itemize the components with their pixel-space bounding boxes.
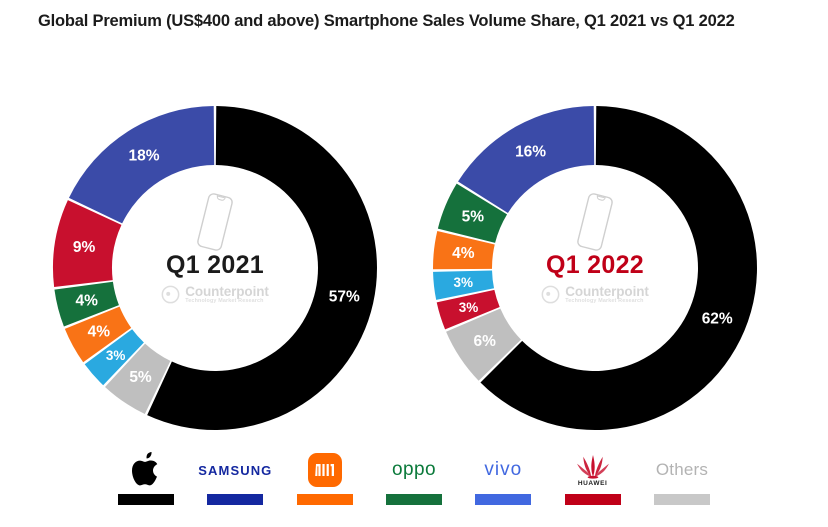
others-label-wrap: Others: [656, 448, 708, 492]
slice-label-oppo: 5%: [462, 208, 485, 225]
oppo-wordmark: oppo: [392, 459, 436, 481]
watermark-tagline: Technology Market Research: [565, 299, 649, 305]
legend-swatch-vivo: [475, 494, 531, 505]
legend-item-samsung[interactable]: SAMSUNG: [193, 448, 277, 505]
watermark-tagline: Technology Market Research: [185, 299, 269, 305]
vivo-logo-wrap: vivo: [484, 448, 522, 492]
slice-label-xiaomi: 4%: [88, 323, 111, 340]
legend-swatch-samsung: [207, 494, 263, 505]
counterpoint-watermark: Counterpoint Technology Market Research: [430, 285, 760, 305]
chart-legend: SAMSUNG oppo vivo: [104, 448, 724, 522]
oppo-logo-wrap: oppo: [392, 448, 436, 492]
slice-label-others: 6%: [473, 333, 496, 350]
huawei-flower-icon: [576, 453, 610, 479]
vivo-wordmark: vivo: [484, 459, 522, 481]
slice-label-others: 5%: [129, 369, 152, 386]
xiaomi-mi-logo-icon: [308, 453, 342, 487]
legend-swatch-apple: [118, 494, 174, 505]
xiaomi-mi-glyph: [315, 462, 335, 478]
slice-label-samsung: 16%: [515, 144, 546, 161]
legend-item-oppo[interactable]: oppo: [372, 448, 456, 505]
watermark-name: Counterpoint: [185, 285, 269, 299]
donut-chart-q1-2022: 62%6%3%3%4%5%16% Q1 2022 Counterpoint Te…: [430, 103, 760, 433]
samsung-logo-wrap: SAMSUNG: [198, 448, 272, 492]
legend-item-apple[interactable]: [104, 448, 188, 505]
legend-swatch-others: [654, 494, 710, 505]
legend-swatch-xiaomi: [297, 494, 353, 505]
legend-item-huawei[interactable]: HUAWEI: [551, 448, 635, 505]
donut-center-label-2022: Q1 2022: [430, 251, 760, 280]
slice-label-vivo: 3%: [106, 348, 126, 363]
slice-label-apple: 62%: [702, 311, 733, 328]
counterpoint-logo-icon: [541, 285, 560, 304]
apple-logo-wrap: [131, 448, 161, 492]
donut-chart-q1-2021: 57%5%3%4%4%9%18% Q1 2021 Counterpoint Te…: [50, 103, 380, 433]
samsung-wordmark: SAMSUNG: [198, 463, 272, 478]
page-title: Global Premium (US$400 and above) Smartp…: [38, 12, 798, 31]
legend-item-others[interactable]: Others: [640, 448, 724, 505]
others-label: Others: [656, 460, 708, 480]
donut-center-label-2021: Q1 2021: [50, 251, 380, 280]
watermark-name: Counterpoint: [565, 285, 649, 299]
apple-logo-icon: [131, 452, 161, 488]
legend-swatch-huawei: [565, 494, 621, 505]
phone-outline-icon: [573, 191, 617, 253]
legend-item-xiaomi[interactable]: [283, 448, 367, 505]
legend-item-vivo[interactable]: vivo: [461, 448, 545, 505]
xiaomi-logo-wrap: [308, 448, 342, 492]
slice-label-samsung: 18%: [128, 148, 159, 165]
phone-outline-icon: [193, 191, 237, 253]
huawei-logo-wrap: HUAWEI: [576, 448, 610, 492]
legend-swatch-oppo: [386, 494, 442, 505]
counterpoint-logo-icon: [161, 285, 180, 304]
huawei-wordmark: HUAWEI: [578, 480, 608, 487]
counterpoint-watermark: Counterpoint Technology Market Research: [50, 285, 380, 305]
